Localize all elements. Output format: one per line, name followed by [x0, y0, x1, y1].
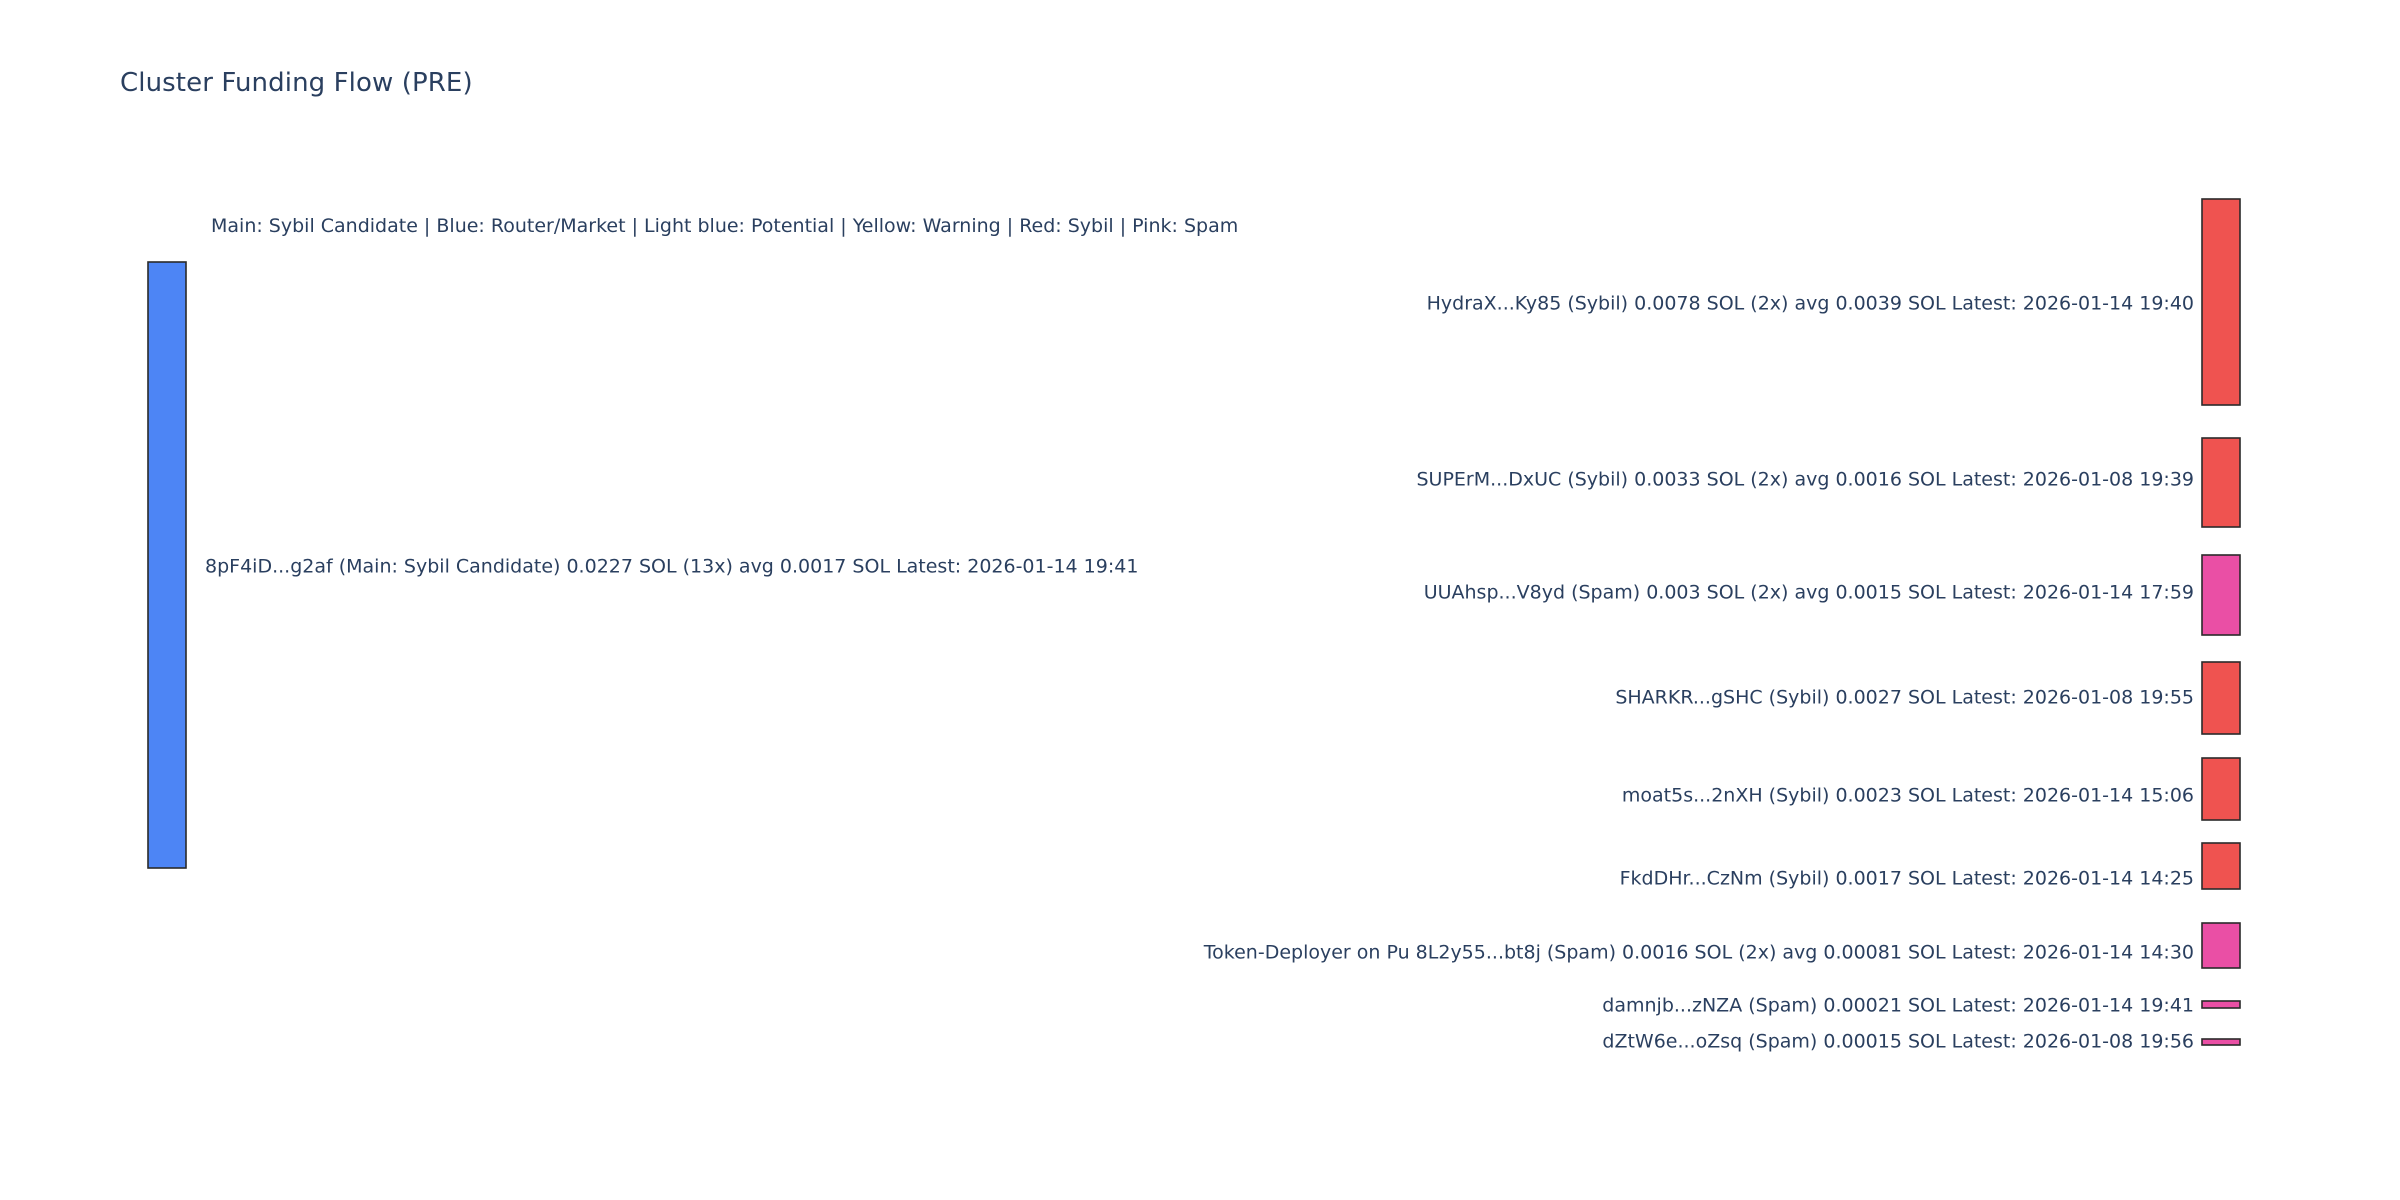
sankey-node-label-superm: SUPErM...DxUC (Sybil) 0.0033 SOL (2x) av… [1416, 469, 2194, 491]
sankey-node-label-uuahsp: UUAhsp...V8yd (Spam) 0.003 SOL (2x) avg … [1424, 582, 2194, 604]
sankey-node-label-sharkr: SHARKR...gSHC (Sybil) 0.0027 SOL Latest:… [1615, 687, 2194, 709]
sankey-node-uuahsp[interactable] [2202, 555, 2240, 635]
sankey-node-sharkr[interactable] [2202, 662, 2240, 734]
sankey-node-label-moat5s: moat5s...2nXH (Sybil) 0.0023 SOL Latest:… [1622, 785, 2194, 807]
sankey-links-layer [186, 199, 2202, 1045]
legend-caption: Main: Sybil Candidate | Blue: Router/Mar… [205, 213, 1244, 239]
sankey-chart-root: Cluster Funding Flow (PRE) 8pF4iD...g2af… [0, 0, 2400, 1200]
sankey-node-fkddhr[interactable] [2202, 843, 2240, 889]
sankey-node-superm[interactable] [2202, 438, 2240, 527]
sankey-labels-layer: 8pF4iD...g2af (Main: Sybil Candidate) 0.… [205, 293, 2194, 1053]
sankey-node-moat5s[interactable] [2202, 758, 2240, 820]
sankey-node-tokendeployer[interactable] [2202, 923, 2240, 968]
sankey-node-damnjb[interactable] [2202, 1001, 2240, 1008]
sankey-node-label-dztw6e: dZtW6e...oZsq (Spam) 0.00015 SOL Latest:… [1602, 1031, 2194, 1053]
sankey-node-hydrax[interactable] [2202, 199, 2240, 405]
sankey-node-label-tokendeployer: Token-Deployer on Pu 8L2y55...bt8j (Spam… [1203, 942, 2194, 964]
sankey-node-source[interactable] [148, 262, 186, 868]
sankey-node-label-source: 8pF4iD...g2af (Main: Sybil Candidate) 0.… [205, 556, 1138, 578]
sankey-node-dztw6e[interactable] [2202, 1039, 2240, 1045]
sankey-link[interactable] [186, 438, 2202, 557]
sankey-nodes-layer [148, 199, 2240, 1045]
sankey-node-label-fkddhr: FkdDHr...CzNm (Sybil) 0.0017 SOL Latest:… [1620, 868, 2194, 890]
sankey-svg: 8pF4iD...g2af (Main: Sybil Candidate) 0.… [0, 0, 2400, 1200]
sankey-node-label-hydrax: HydraX...Ky85 (Sybil) 0.0078 SOL (2x) av… [1427, 293, 2194, 315]
sankey-link[interactable] [186, 199, 2202, 468]
sankey-node-label-damnjb: damnjb...zNZA (Spam) 0.00021 SOL Latest:… [1602, 995, 2194, 1017]
sankey-link[interactable] [186, 637, 2202, 734]
